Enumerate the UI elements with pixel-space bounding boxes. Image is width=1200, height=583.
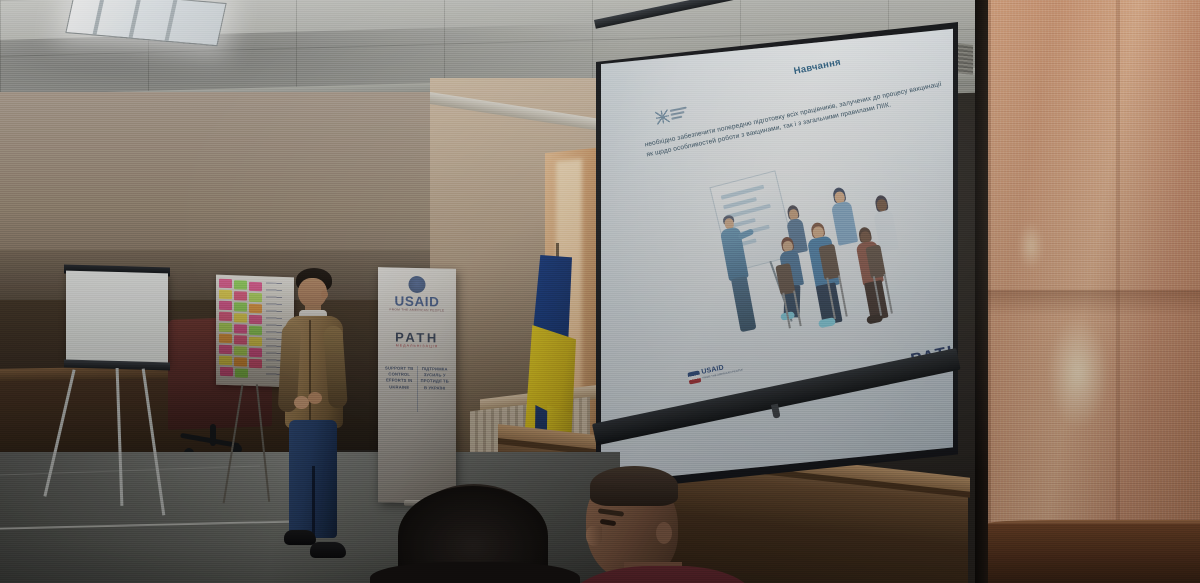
presenter-right-hand <box>308 392 322 404</box>
curtain-shadow-band <box>988 290 1200 316</box>
presenter-left-hand <box>294 396 309 409</box>
curtain-sill <box>988 524 1200 583</box>
presenter-ear <box>321 290 328 299</box>
presenter-jeans-seam <box>312 466 315 540</box>
seated-attendee-profile <box>572 466 702 583</box>
usaid-path-rollup-banner: USAID FROM THE AMERICAN PEOPLE PATH МЕДА… <box>378 267 456 504</box>
curtain-sunspot-2 <box>1018 222 1044 270</box>
attendee-hair <box>590 466 678 506</box>
attendee-nose <box>586 526 602 546</box>
blank-flipchart-easel <box>66 271 168 366</box>
standing-presenter <box>272 268 356 568</box>
banner-shading <box>378 267 456 504</box>
presenter-left-shoe <box>284 530 316 545</box>
presenter-right-shoe <box>310 542 346 558</box>
conference-room-photo: Навчання необхідно забезпечити попередню… <box>0 0 1200 583</box>
attendee-ear <box>656 522 672 544</box>
window-curtain <box>988 0 1200 583</box>
curtain-sunspot <box>1048 318 1108 428</box>
seated-attendee-shoulders <box>370 562 580 583</box>
presenter-jacket-zip <box>309 320 311 424</box>
